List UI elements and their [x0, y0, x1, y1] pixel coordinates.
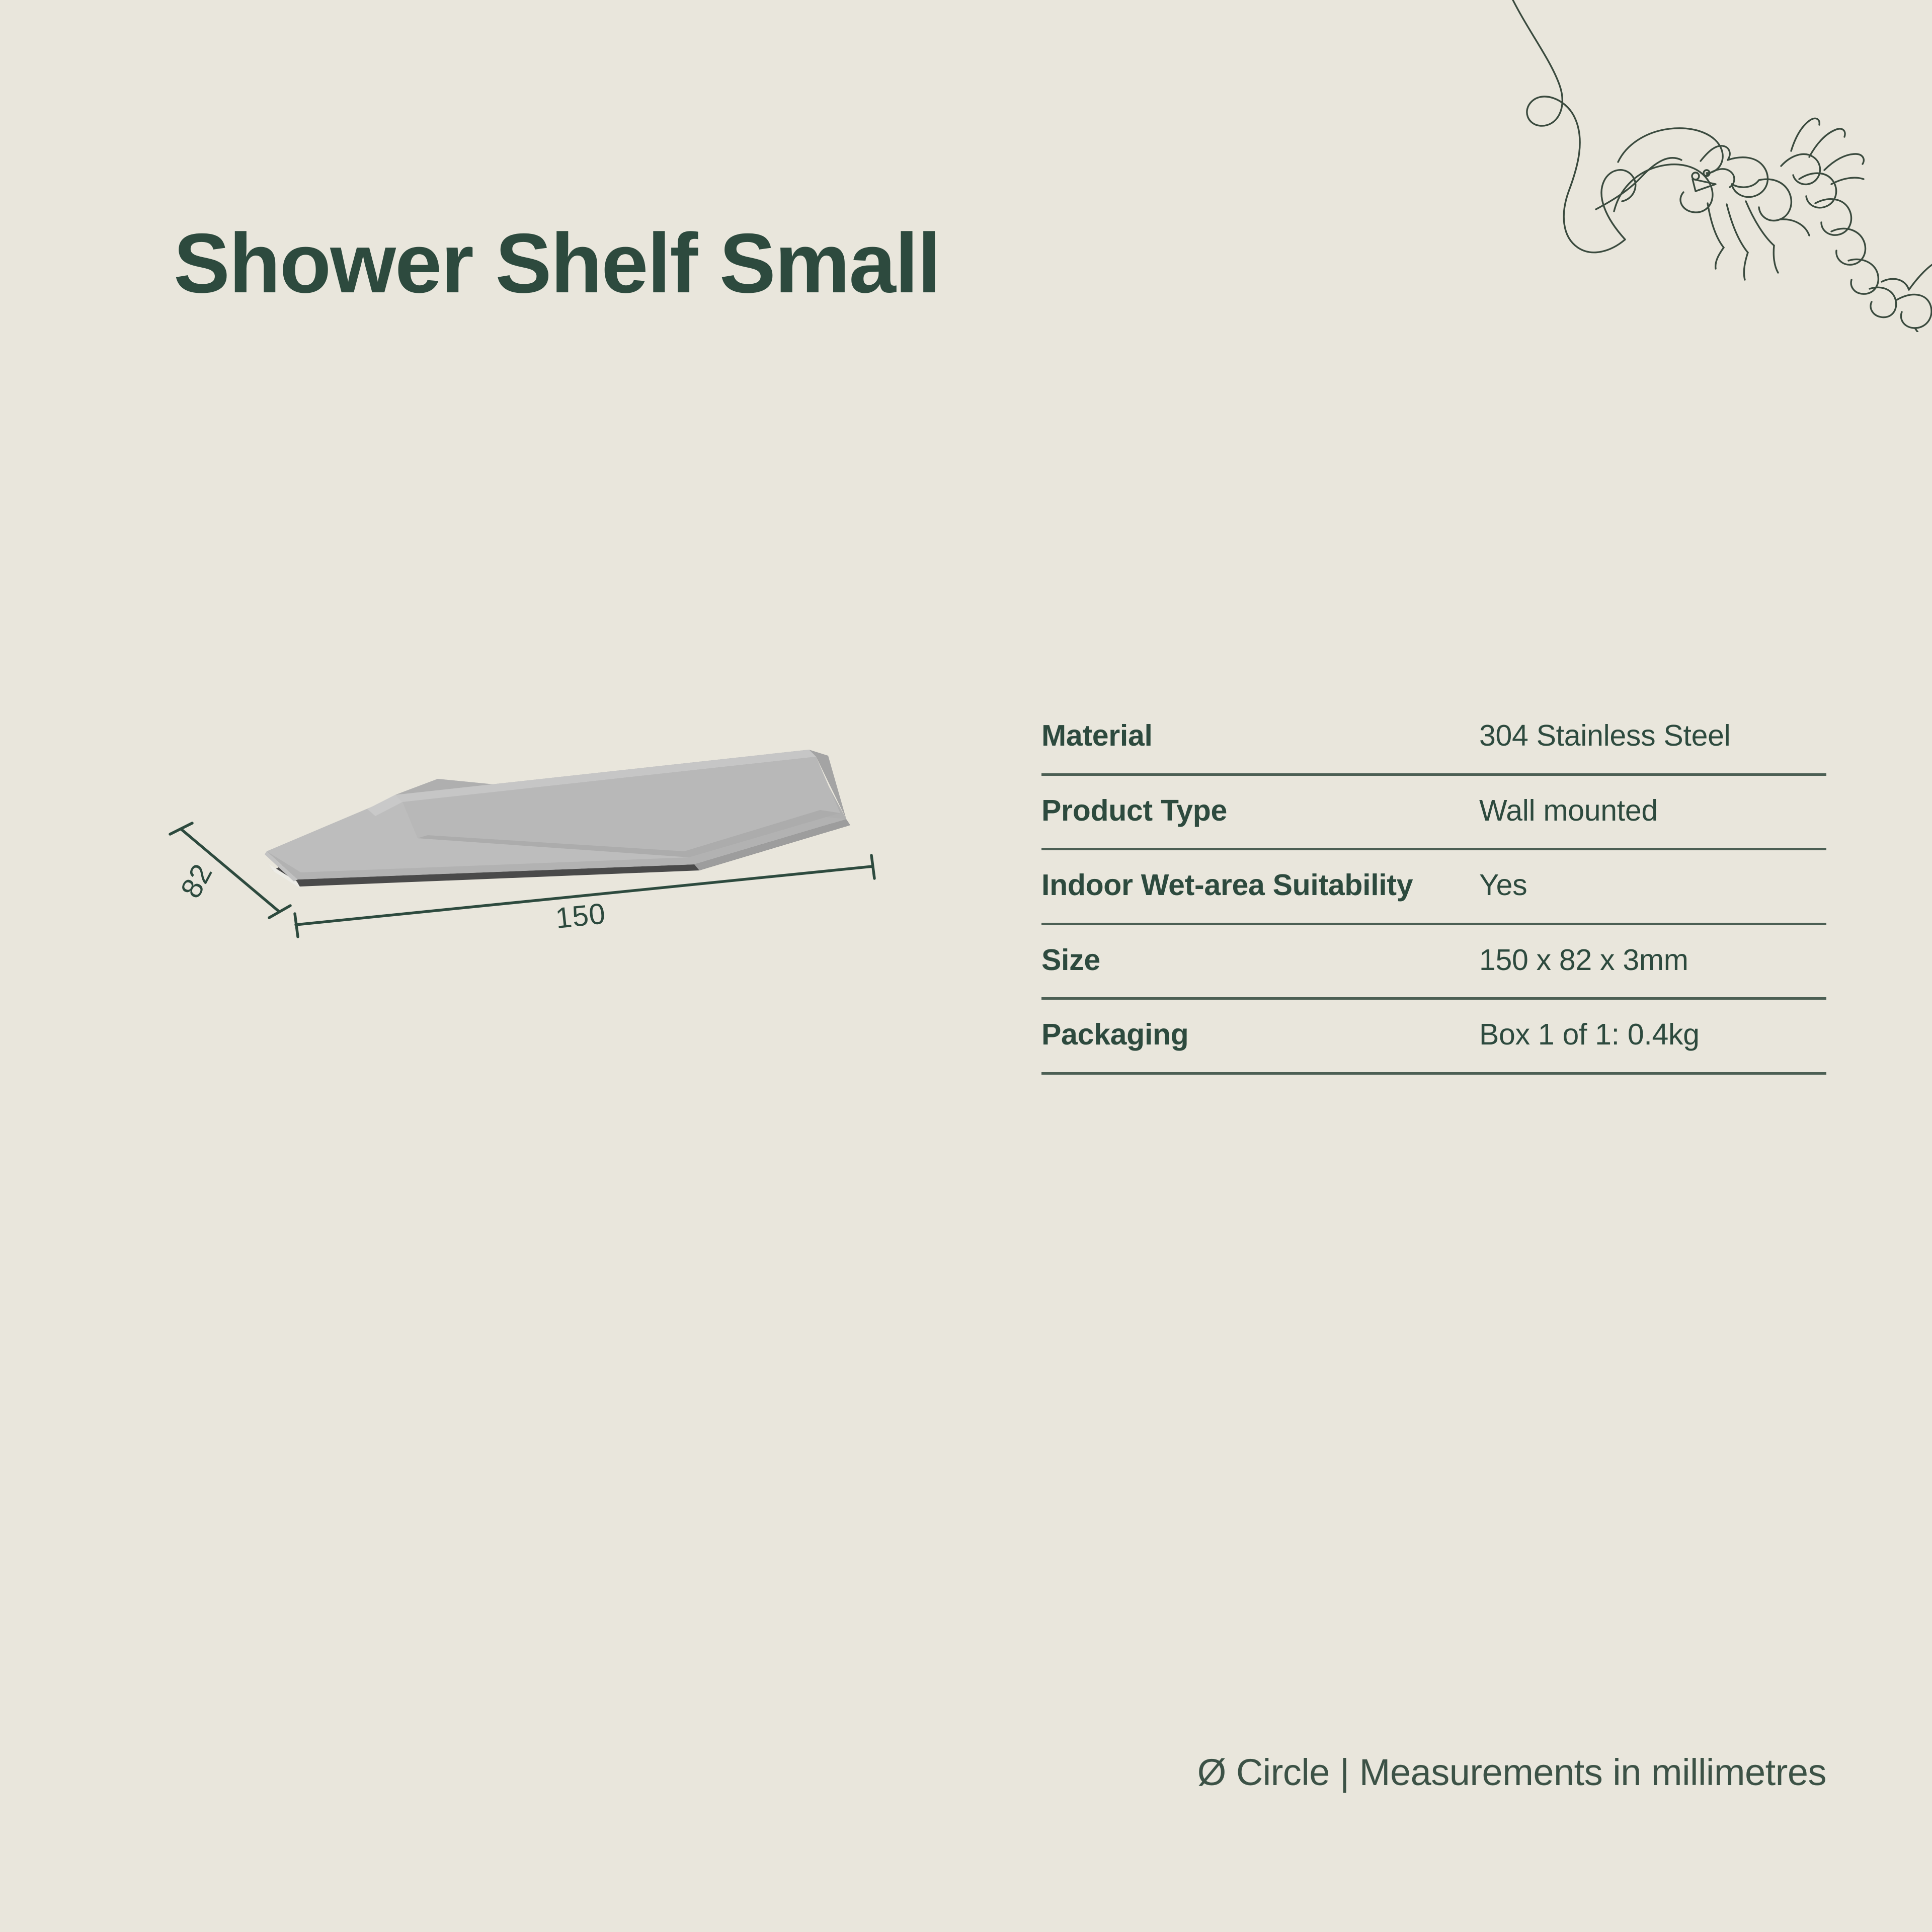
specification-table: Material 304 Stainless Steel Product Typ…: [1041, 717, 1826, 1075]
table-row: Packaging Box 1 of 1: 0.4kg: [1041, 1000, 1826, 1075]
table-row: Product Type Wall mounted: [1041, 776, 1826, 851]
spec-value: 304 Stainless Steel: [1479, 717, 1826, 755]
table-row: Material 304 Stainless Steel: [1041, 717, 1826, 776]
dimension-label-82: 82: [174, 858, 219, 903]
spec-label: Material: [1041, 717, 1479, 755]
lobster-line-art-icon: [1479, 0, 1932, 332]
footer-measurement-note: Ø Circle | Measurements in millimetres: [1197, 1751, 1826, 1794]
spec-label: Product Type: [1041, 792, 1479, 830]
table-row: Size 150 x 82 x 3mm: [1041, 925, 1826, 1000]
spec-value: 150 x 82 x 3mm: [1479, 941, 1826, 980]
shelf-3d-body: [265, 750, 850, 889]
spec-value: Box 1 of 1: 0.4kg: [1479, 1016, 1826, 1054]
spec-label: Size: [1041, 941, 1479, 980]
spec-value: Wall mounted: [1479, 792, 1826, 830]
page-title: Shower Shelf Small: [174, 219, 940, 307]
spec-label: Packaging: [1041, 1016, 1479, 1054]
table-row: Indoor Wet-area Suitability Yes: [1041, 850, 1826, 925]
product-illustration: 82 150: [166, 719, 911, 981]
dimension-label-150: 150: [554, 897, 607, 935]
spec-value: Yes: [1479, 866, 1826, 905]
spec-label: Indoor Wet-area Suitability: [1041, 866, 1479, 905]
